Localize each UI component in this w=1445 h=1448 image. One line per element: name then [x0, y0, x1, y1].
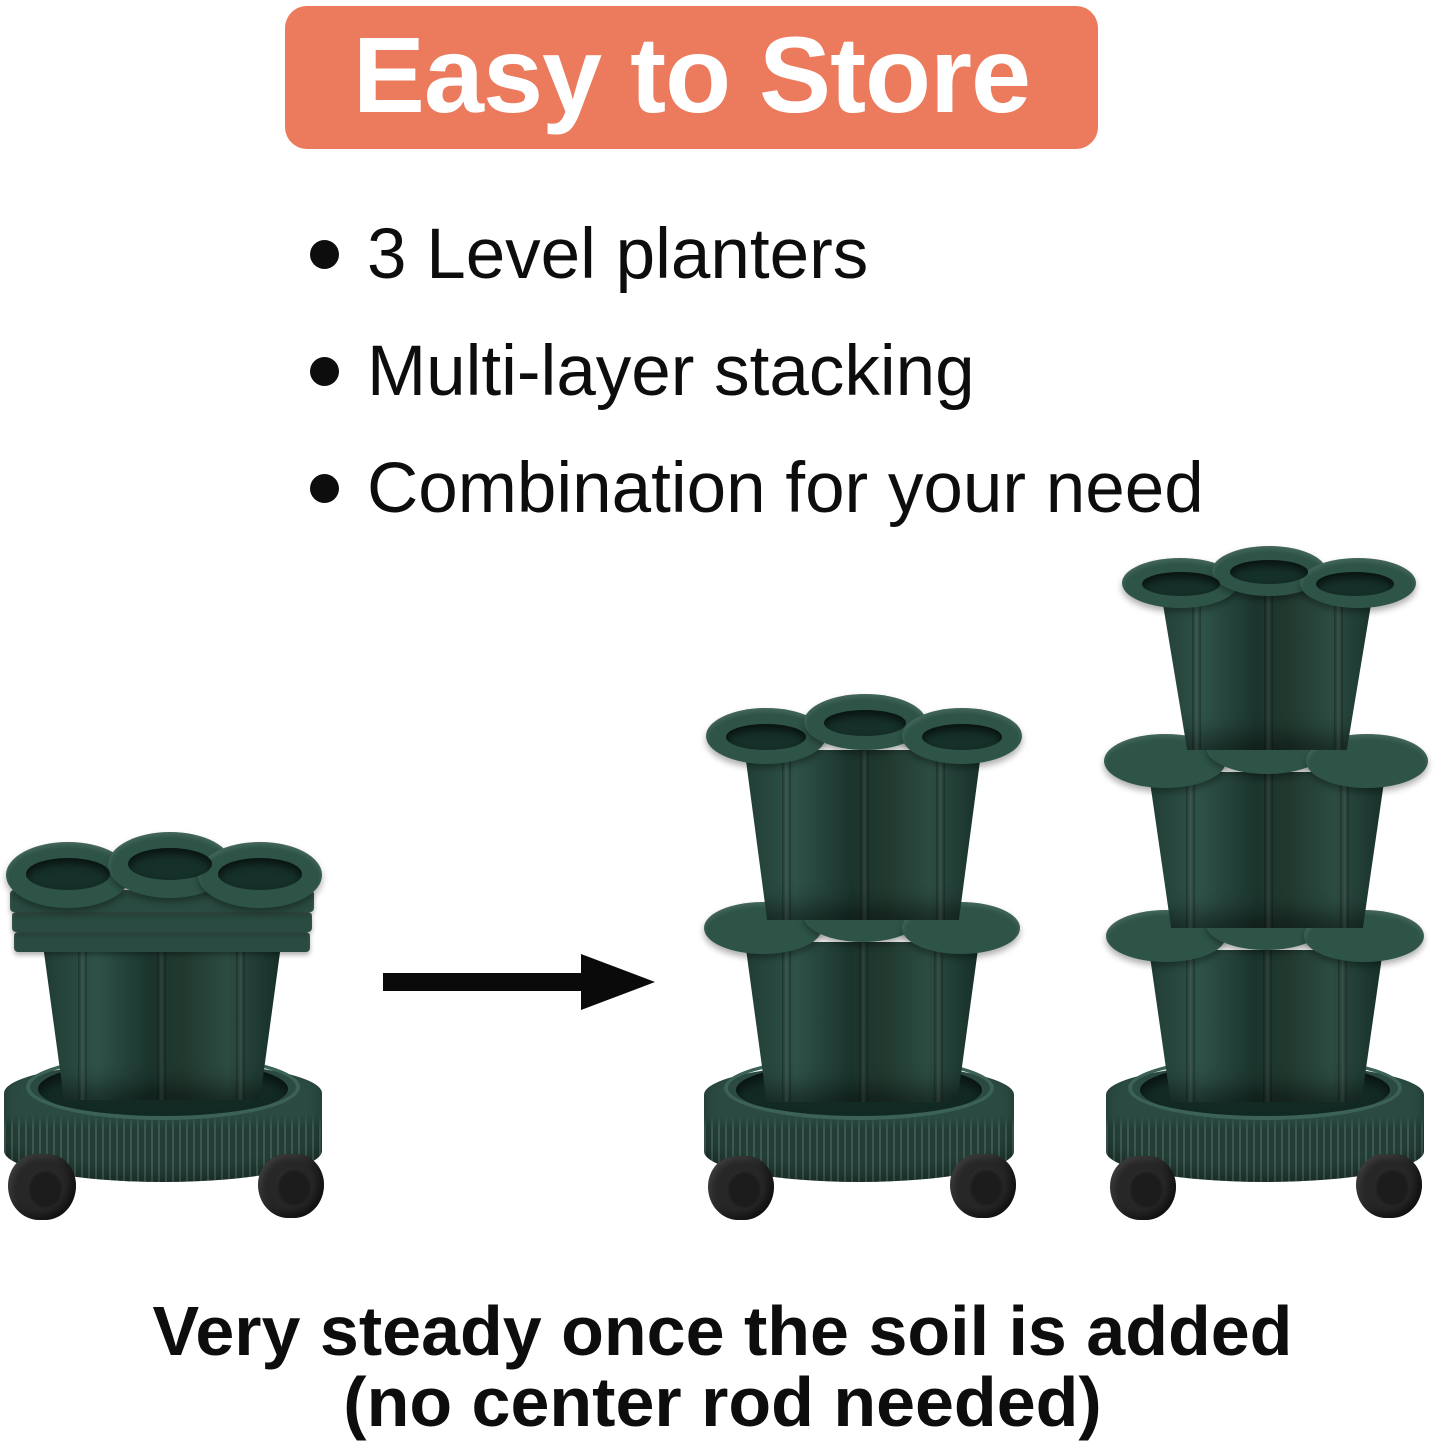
list-item: Multi-layer stacking	[310, 313, 1400, 430]
planter-tier	[1130, 950, 1402, 1102]
caption-line-1: Very steady once the soil is added	[0, 1296, 1445, 1367]
planter-rim-opening	[824, 710, 906, 736]
product-infographic: Easy to Store 3 Level planters Multi-lay…	[0, 0, 1445, 1448]
product-illustration	[0, 600, 1445, 1220]
tier-surface	[722, 750, 1004, 920]
tier-flute	[1264, 772, 1273, 928]
tier-flute	[1263, 950, 1272, 1102]
caption-line-2: (no center rod needed)	[0, 1367, 1445, 1438]
right-arrow-icon	[383, 952, 655, 1012]
caster-wheel	[258, 1154, 324, 1218]
bullet-dot-icon	[310, 357, 339, 386]
feature-label: Multi-layer stacking	[367, 336, 975, 407]
tier-flute	[1186, 950, 1195, 1102]
two-tier-planter	[700, 620, 1030, 1220]
tier-flute	[1264, 590, 1273, 750]
tier-flute	[1334, 590, 1343, 750]
planter-rim-opening	[128, 848, 212, 880]
stacked-rim-band	[14, 932, 310, 952]
tier-flute	[1340, 772, 1349, 928]
caster-wheel	[8, 1154, 76, 1220]
tier-flute	[936, 750, 945, 920]
planter-rim-opening	[922, 724, 1002, 750]
planter-tier	[1126, 772, 1408, 928]
tier-flute	[859, 942, 868, 1102]
bottom-caption: Very steady once the soil is added (no c…	[0, 1296, 1445, 1439]
planter-tier	[726, 942, 998, 1102]
tier-flute	[236, 940, 245, 1100]
tier-flute	[1192, 590, 1201, 750]
tier-flute	[782, 750, 791, 920]
tier-flute	[860, 750, 869, 920]
planter-tier	[722, 750, 1004, 920]
tier-surface	[1126, 772, 1408, 928]
planter-rim-opening	[218, 858, 302, 890]
tier-flute	[157, 940, 166, 1100]
feature-label: Combination for your need	[367, 453, 1204, 524]
planter-rim-opening	[1316, 572, 1394, 596]
tier-surface	[1134, 590, 1400, 750]
tier-surface	[726, 942, 998, 1102]
planter-tier	[1134, 590, 1400, 750]
list-item: Combination for your need	[310, 430, 1400, 547]
caster-wheel	[1110, 1156, 1176, 1220]
planter-tier	[26, 940, 298, 1100]
planter-rim-opening	[1230, 560, 1308, 584]
page-title: Easy to Store	[353, 21, 1030, 129]
header-banner: Easy to Store	[285, 6, 1098, 149]
planter-rim-opening	[1142, 572, 1220, 596]
tier-flute	[934, 942, 943, 1102]
tier-surface	[1130, 950, 1402, 1102]
list-item: 3 Level planters	[310, 196, 1400, 313]
feature-label: 3 Level planters	[367, 219, 868, 290]
stacked-rim-band	[12, 912, 312, 932]
planter-rim-opening	[26, 858, 110, 890]
tier-flute	[78, 940, 87, 1100]
bullet-dot-icon	[310, 240, 339, 269]
three-tier-planter	[1100, 620, 1440, 1220]
caster-wheel	[950, 1154, 1016, 1218]
tier-surface	[26, 940, 298, 1100]
tier-flute	[1186, 772, 1195, 928]
tier-flute	[1338, 950, 1347, 1102]
feature-list: 3 Level planters Multi-layer stacking Co…	[310, 196, 1400, 547]
caster-wheel	[708, 1156, 774, 1220]
caster-wheel	[1356, 1154, 1422, 1218]
bullet-dot-icon	[310, 474, 339, 503]
planter-rim-opening	[726, 724, 806, 750]
single-tier-planter	[0, 620, 340, 1220]
tier-flute	[782, 942, 791, 1102]
